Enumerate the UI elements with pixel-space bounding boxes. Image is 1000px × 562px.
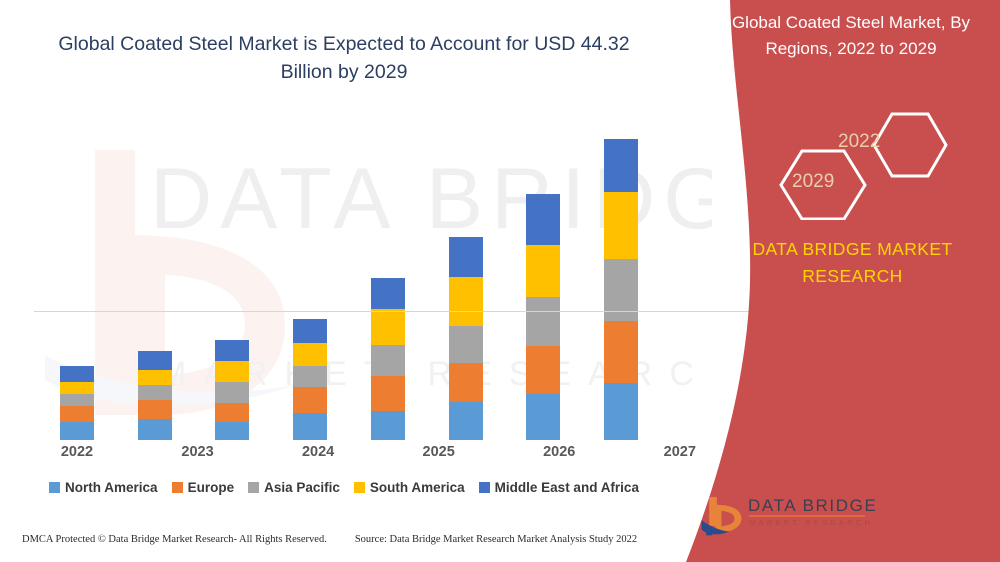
- bar-segment: [604, 383, 638, 440]
- legend-item: Asia Pacific: [248, 480, 340, 495]
- bar-segment: [215, 382, 249, 403]
- stacked-bar-chart: [0, 120, 700, 440]
- bar-segment: [293, 387, 327, 413]
- red-panel-shape: [670, 0, 1000, 562]
- bar-column: [273, 120, 347, 440]
- bar-segment: [449, 402, 483, 440]
- stacked-bar: [526, 194, 560, 440]
- bar-segment: [371, 345, 405, 376]
- bar-segment: [138, 400, 172, 419]
- legend-color-swatch: [49, 482, 60, 493]
- x-axis-tick-label: 2023: [161, 444, 235, 460]
- bar-segment: [138, 370, 172, 385]
- page-title: Global Coated Steel Market is Expected t…: [52, 30, 636, 87]
- stacked-bar: [293, 319, 327, 440]
- bar-segment: [371, 376, 405, 411]
- stacked-bar: [138, 351, 172, 440]
- logo-tagline: MARKET RESEARCH: [749, 518, 873, 527]
- bar-segment: [526, 394, 560, 440]
- x-axis-tick-label: 2024: [281, 444, 355, 460]
- bar-segment: [371, 278, 405, 309]
- logo-divider: [749, 515, 865, 517]
- stacked-bar: [215, 340, 249, 440]
- legend-color-swatch: [172, 482, 183, 493]
- bar-segment: [215, 361, 249, 382]
- bar-segment: [449, 237, 483, 277]
- legend-item-label: Middle East and Africa: [495, 480, 639, 495]
- bar-segment: [60, 394, 94, 406]
- bar-segment: [60, 422, 94, 440]
- bar-segment: [604, 321, 638, 383]
- bar-segment: [371, 411, 405, 440]
- x-axis-tick-label: 2025: [402, 444, 476, 460]
- bar-column: [506, 120, 580, 440]
- legend-item-label: North America: [65, 480, 158, 495]
- legend-item: North America: [49, 480, 158, 495]
- data-bridge-logo: DATA BRIDGE MARKET RESEARCH: [700, 494, 880, 542]
- source-text: Source: Data Bridge Market Research Mark…: [355, 534, 637, 545]
- bar-segment: [526, 245, 560, 297]
- bar-segment: [293, 413, 327, 440]
- bar-segment: [215, 422, 249, 440]
- stacked-bar: [604, 139, 638, 440]
- bar-segment: [138, 351, 172, 370]
- legend-color-swatch: [479, 482, 490, 493]
- bar-column: [118, 120, 192, 440]
- legend-item: Middle East and Africa: [479, 480, 639, 495]
- bar-column: [429, 120, 503, 440]
- bar-segment: [60, 406, 94, 422]
- legend-item: South America: [354, 480, 465, 495]
- bar-segment: [138, 419, 172, 440]
- bar-column: [351, 120, 425, 440]
- legend-item: Europe: [172, 480, 235, 495]
- bar-column: [584, 120, 658, 440]
- bar-segment: [60, 382, 94, 394]
- logo-name: DATA BRIDGE: [748, 496, 877, 516]
- bar-segment: [293, 366, 327, 387]
- bar-segment: [215, 403, 249, 422]
- bar-segment: [60, 366, 94, 382]
- copyright-text: DMCA Protected © Data Bridge Market Rese…: [22, 534, 327, 545]
- bar-segment: [526, 346, 560, 394]
- stacked-bar: [449, 237, 483, 440]
- chart-legend: North AmericaEuropeAsia PacificSouth Ame…: [38, 480, 650, 495]
- legend-color-swatch: [248, 482, 259, 493]
- bar-segment: [138, 385, 172, 400]
- chart-plot-area: [40, 120, 658, 440]
- stacked-bar: [60, 366, 94, 440]
- bar-segment: [449, 277, 483, 326]
- stacked-bar: [371, 278, 405, 440]
- bar-column: [40, 120, 114, 440]
- bar-segment: [604, 139, 638, 192]
- bar-segment: [604, 192, 638, 259]
- legend-color-swatch: [354, 482, 365, 493]
- bar-segment: [215, 340, 249, 361]
- db-mark-icon: [700, 494, 746, 540]
- x-axis-tick-label: 2026: [522, 444, 596, 460]
- bar-segment: [526, 297, 560, 346]
- bar-column: [195, 120, 269, 440]
- bar-segment: [526, 194, 560, 245]
- legend-item-label: Europe: [188, 480, 235, 495]
- bar-segment: [449, 326, 483, 363]
- bar-segment: [293, 343, 327, 366]
- bar-segment: [449, 363, 483, 402]
- bar-segment: [293, 319, 327, 343]
- x-axis-tick-label: 2022: [40, 444, 114, 460]
- right-red-panel: [670, 0, 1000, 562]
- footer-bar: DMCA Protected © Data Bridge Market Rese…: [22, 534, 662, 545]
- bar-segment: [371, 309, 405, 345]
- legend-item-label: Asia Pacific: [264, 480, 340, 495]
- legend-item-label: South America: [370, 480, 465, 495]
- infographic-canvas: DATA BRIDGE MARKET RESEARCH Global Coate…: [0, 0, 1000, 562]
